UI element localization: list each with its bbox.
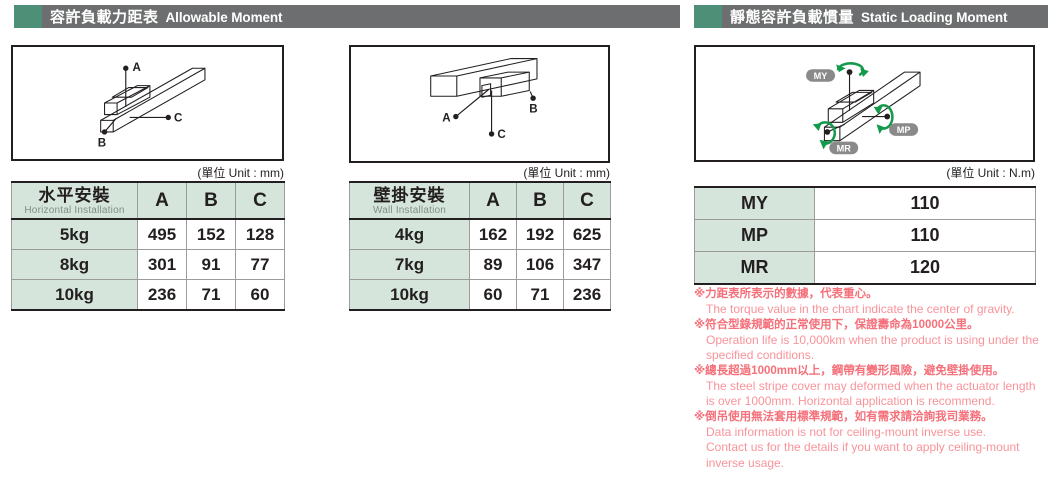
unit-caption-horizontal: (單位 Unit : mm): [104, 164, 284, 181]
unit-caption-wall: (單位 Unit : mm): [430, 164, 610, 181]
cell-c: 347: [564, 250, 611, 280]
svg-text:B: B: [98, 137, 106, 149]
table-row: 8kg 301 91 77: [12, 250, 285, 280]
cell-c: 60: [236, 280, 285, 311]
svg-text:MP: MP: [897, 125, 911, 135]
row-label-mr: MR: [695, 252, 815, 285]
table-row: 4kg 162 192 625: [350, 219, 611, 250]
datasheet-page: 容許負載力距表 Allowable Moment 靜態容許負載慣量 Static…: [0, 0, 1048, 479]
figure-horizontal-installation: A C B: [11, 45, 284, 161]
table-static-loading-moment: MY 110 MP 110 MR 120: [694, 186, 1036, 285]
column-header-c: C: [564, 182, 611, 219]
cell-value-my: 110: [815, 187, 1036, 220]
note-cn: ※總長超過1000mm以上，鋼帶有變形風險，避免壁掛使用。: [694, 364, 1044, 379]
cell-b: 71: [187, 280, 236, 311]
table-row: 10kg 60 71 236: [350, 280, 611, 311]
cell-value-mr: 120: [815, 252, 1036, 285]
note-cn: ※倒吊使用無法套用標準規範，如有需求請洽詢我司業務。: [694, 410, 1044, 425]
note-en: inverse usage.: [694, 456, 1044, 472]
cell-a: 60: [470, 280, 517, 311]
section-title-cn: 容許負載力距表: [50, 6, 159, 27]
svg-text:MY: MY: [814, 71, 828, 81]
label-my: MY: [806, 69, 835, 82]
cell-a: 301: [138, 250, 187, 280]
table-header-cn: 壁掛安裝: [350, 186, 469, 205]
column-header-c: C: [236, 182, 285, 219]
svg-text:C: C: [497, 129, 506, 141]
cell-a: 495: [138, 219, 187, 250]
table-header-installation: 壁掛安裝 Wall Installation: [350, 182, 470, 219]
table-header-row: 水平安裝 Horizontal Installation A B C: [12, 182, 285, 219]
label-mr: MR: [829, 142, 858, 155]
row-label: 8kg: [12, 250, 138, 280]
cell-c: 77: [236, 250, 285, 280]
table-row: 5kg 495 152 128: [12, 219, 285, 250]
cell-a: 89: [470, 250, 517, 280]
table-row: MR 120: [695, 252, 1036, 285]
cell-b: 192: [517, 219, 564, 250]
note-en: Data information is not for ceiling-moun…: [694, 425, 1044, 441]
unit-caption-static: (單位 Unit : N.m): [855, 164, 1035, 181]
section-header-allowable-moment: 容許負載力距表 Allowable Moment: [14, 5, 680, 28]
table-row: 10kg 236 71 60: [12, 280, 285, 311]
cell-a: 162: [470, 219, 517, 250]
table-row: 7kg 89 106 347: [350, 250, 611, 280]
cell-b: 71: [517, 280, 564, 311]
column-header-b: B: [517, 182, 564, 219]
figure-static-loading-moment: MY MP MR: [694, 45, 1035, 162]
section-title-en: Static Loading Moment: [861, 10, 1007, 25]
table-header-en: Horizontal Installation: [12, 205, 137, 216]
table-horizontal-installation: 水平安裝 Horizontal Installation A B C 5kg 4…: [11, 181, 285, 311]
header-accent-block: [694, 5, 722, 28]
cell-c: 128: [236, 219, 285, 250]
header-title-group: 容許負載力距表 Allowable Moment: [42, 6, 282, 27]
cell-value-mp: 110: [815, 220, 1036, 252]
cell-a: 236: [138, 280, 187, 311]
note-en: Contact us for the details if you want t…: [694, 440, 1044, 456]
cell-b: 106: [517, 250, 564, 280]
table-header-row: 壁掛安裝 Wall Installation A B C: [350, 182, 611, 219]
note-en: The steel stripe cover may deformed when…: [694, 379, 1044, 395]
section-header-static-loading-moment: 靜態容許負載慣量 Static Loading Moment: [694, 5, 1048, 28]
table-header-installation: 水平安裝 Horizontal Installation: [12, 182, 138, 219]
notes-block: ※力距表所表示的數據，代表重心。 The torque value in the…: [694, 287, 1044, 471]
svg-text:A: A: [442, 112, 451, 124]
svg-text:A: A: [133, 62, 142, 74]
note-en: The torque value in the chart indicate t…: [694, 302, 1044, 318]
note-en: Operation life is 10,000km when the prod…: [694, 333, 1044, 349]
cell-c: 625: [564, 219, 611, 250]
row-label-my: MY: [695, 187, 815, 220]
header-title-group: 靜態容許負載慣量 Static Loading Moment: [722, 6, 1007, 27]
note-en: is over 1000mm. Horizontal application i…: [694, 394, 1044, 410]
table-wall-installation: 壁掛安裝 Wall Installation A B C 4kg 162 192…: [349, 181, 611, 311]
table-row: MP 110: [695, 220, 1036, 252]
row-label: 5kg: [12, 219, 138, 250]
cell-b: 152: [187, 219, 236, 250]
row-label: 7kg: [350, 250, 470, 280]
column-header-a: A: [470, 182, 517, 219]
section-title-cn: 靜態容許負載慣量: [730, 6, 854, 27]
note-en: specified conditions.: [694, 348, 1044, 364]
table-row: MY 110: [695, 187, 1036, 220]
section-title-en: Allowable Moment: [166, 10, 283, 25]
svg-text:B: B: [529, 104, 537, 116]
note-cn: ※力距表所表示的數據，代表重心。: [694, 287, 1044, 302]
cell-c: 236: [564, 280, 611, 311]
row-label: 10kg: [12, 280, 138, 311]
header-accent-block: [14, 5, 42, 28]
column-header-a: A: [138, 182, 187, 219]
figure-wall-installation: A B C: [349, 45, 610, 163]
row-label-mp: MP: [695, 220, 815, 252]
table-header-cn: 水平安裝: [12, 186, 137, 205]
cell-b: 91: [187, 250, 236, 280]
table-header-en: Wall Installation: [350, 205, 469, 216]
row-label: 4kg: [350, 219, 470, 250]
note-cn: ※符合型錄規範的正常使用下，保證壽命為10000公里。: [694, 318, 1044, 333]
svg-text:C: C: [174, 112, 183, 124]
column-header-b: B: [187, 182, 236, 219]
row-label: 10kg: [350, 280, 470, 311]
label-mp: MP: [889, 123, 918, 136]
svg-text:MR: MR: [837, 143, 852, 153]
